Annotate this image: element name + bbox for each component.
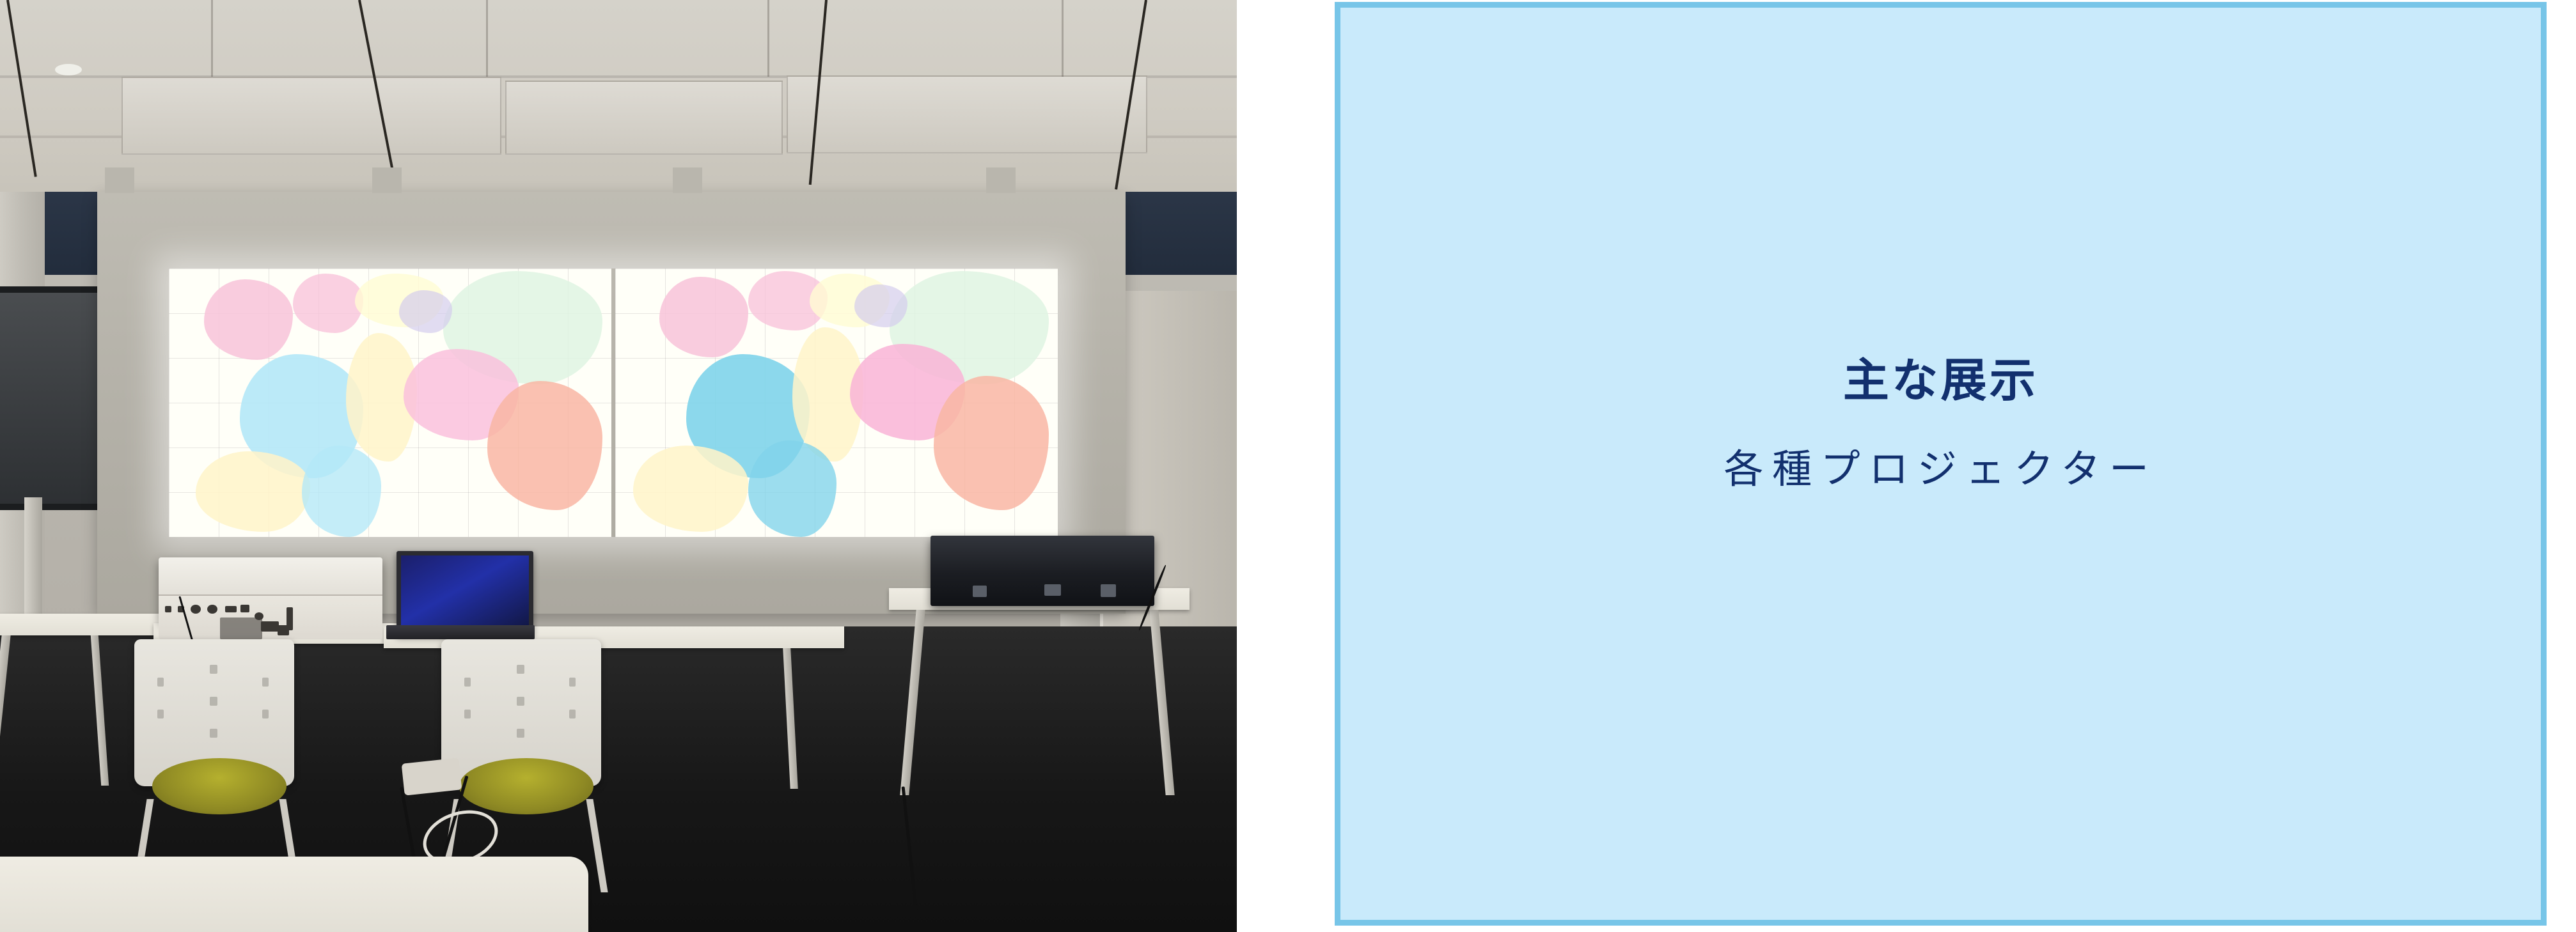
chair-vent bbox=[517, 729, 524, 738]
ceiling-sprinkler-icon bbox=[55, 64, 82, 75]
classroom-photo bbox=[0, 0, 1237, 932]
exhibit-info-panel: 主な展示 各種プロジェクター bbox=[1335, 2, 2547, 926]
ceiling-panel bbox=[787, 75, 1147, 153]
projected-map-right bbox=[615, 268, 1058, 537]
projector-port bbox=[165, 606, 171, 612]
screen-mount-notch bbox=[105, 167, 134, 193]
projector-indicator bbox=[973, 586, 987, 597]
chair-vent bbox=[262, 710, 269, 718]
laptop-keyboard bbox=[386, 625, 535, 639]
chair-vent bbox=[464, 710, 471, 718]
power-strip bbox=[402, 757, 462, 795]
chair-vent bbox=[569, 678, 576, 687]
chair-vent bbox=[517, 665, 524, 674]
panel-title: 主な展示 bbox=[1843, 358, 2038, 404]
ceiling-grid-line bbox=[1062, 0, 1064, 77]
projected-map-left bbox=[169, 268, 611, 537]
chair-vent bbox=[262, 678, 269, 687]
monitor-stand bbox=[24, 497, 42, 625]
ceiling-grid-line bbox=[486, 0, 488, 77]
white-projector-front bbox=[159, 594, 382, 639]
screen-mount-notch bbox=[673, 167, 702, 193]
chair-vent bbox=[464, 678, 471, 687]
chair-left-seat bbox=[152, 758, 287, 814]
projector-port bbox=[225, 606, 237, 612]
ceiling-panel bbox=[505, 81, 783, 155]
ceiling-grid-line bbox=[211, 0, 213, 77]
projector-vent bbox=[220, 617, 262, 639]
black-projector bbox=[931, 536, 1154, 606]
panel-subtitle: 各種プロジェクター bbox=[1724, 450, 2157, 490]
chair-vent bbox=[517, 697, 524, 706]
projector-button bbox=[261, 621, 279, 632]
table-front bbox=[0, 857, 588, 932]
ceiling-panel bbox=[122, 77, 501, 155]
chair-vent bbox=[157, 710, 164, 718]
chair-vent bbox=[569, 710, 576, 718]
projector-port bbox=[240, 605, 249, 612]
screen-mount-notch bbox=[372, 167, 402, 193]
projected-images bbox=[169, 268, 1058, 537]
chair-vent bbox=[210, 729, 217, 738]
chair-vent bbox=[210, 665, 217, 674]
wall-monitor bbox=[0, 286, 106, 510]
ceiling bbox=[0, 0, 1237, 211]
projector-port bbox=[191, 605, 201, 614]
projector-power-button bbox=[1101, 584, 1116, 597]
projector-port bbox=[207, 605, 217, 614]
chair-vent bbox=[157, 678, 164, 687]
ceiling-grid-line bbox=[767, 0, 769, 77]
laptop-screen bbox=[397, 551, 533, 635]
suspension-cable bbox=[6, 0, 37, 177]
screen-mount-notch bbox=[986, 167, 1016, 193]
projector-indicator bbox=[1044, 584, 1061, 596]
map-region bbox=[399, 290, 452, 333]
projector-lens-icon bbox=[255, 612, 263, 620]
chair-vent bbox=[210, 697, 217, 706]
chair-right-seat bbox=[459, 758, 593, 814]
projector-power-socket bbox=[278, 625, 289, 635]
